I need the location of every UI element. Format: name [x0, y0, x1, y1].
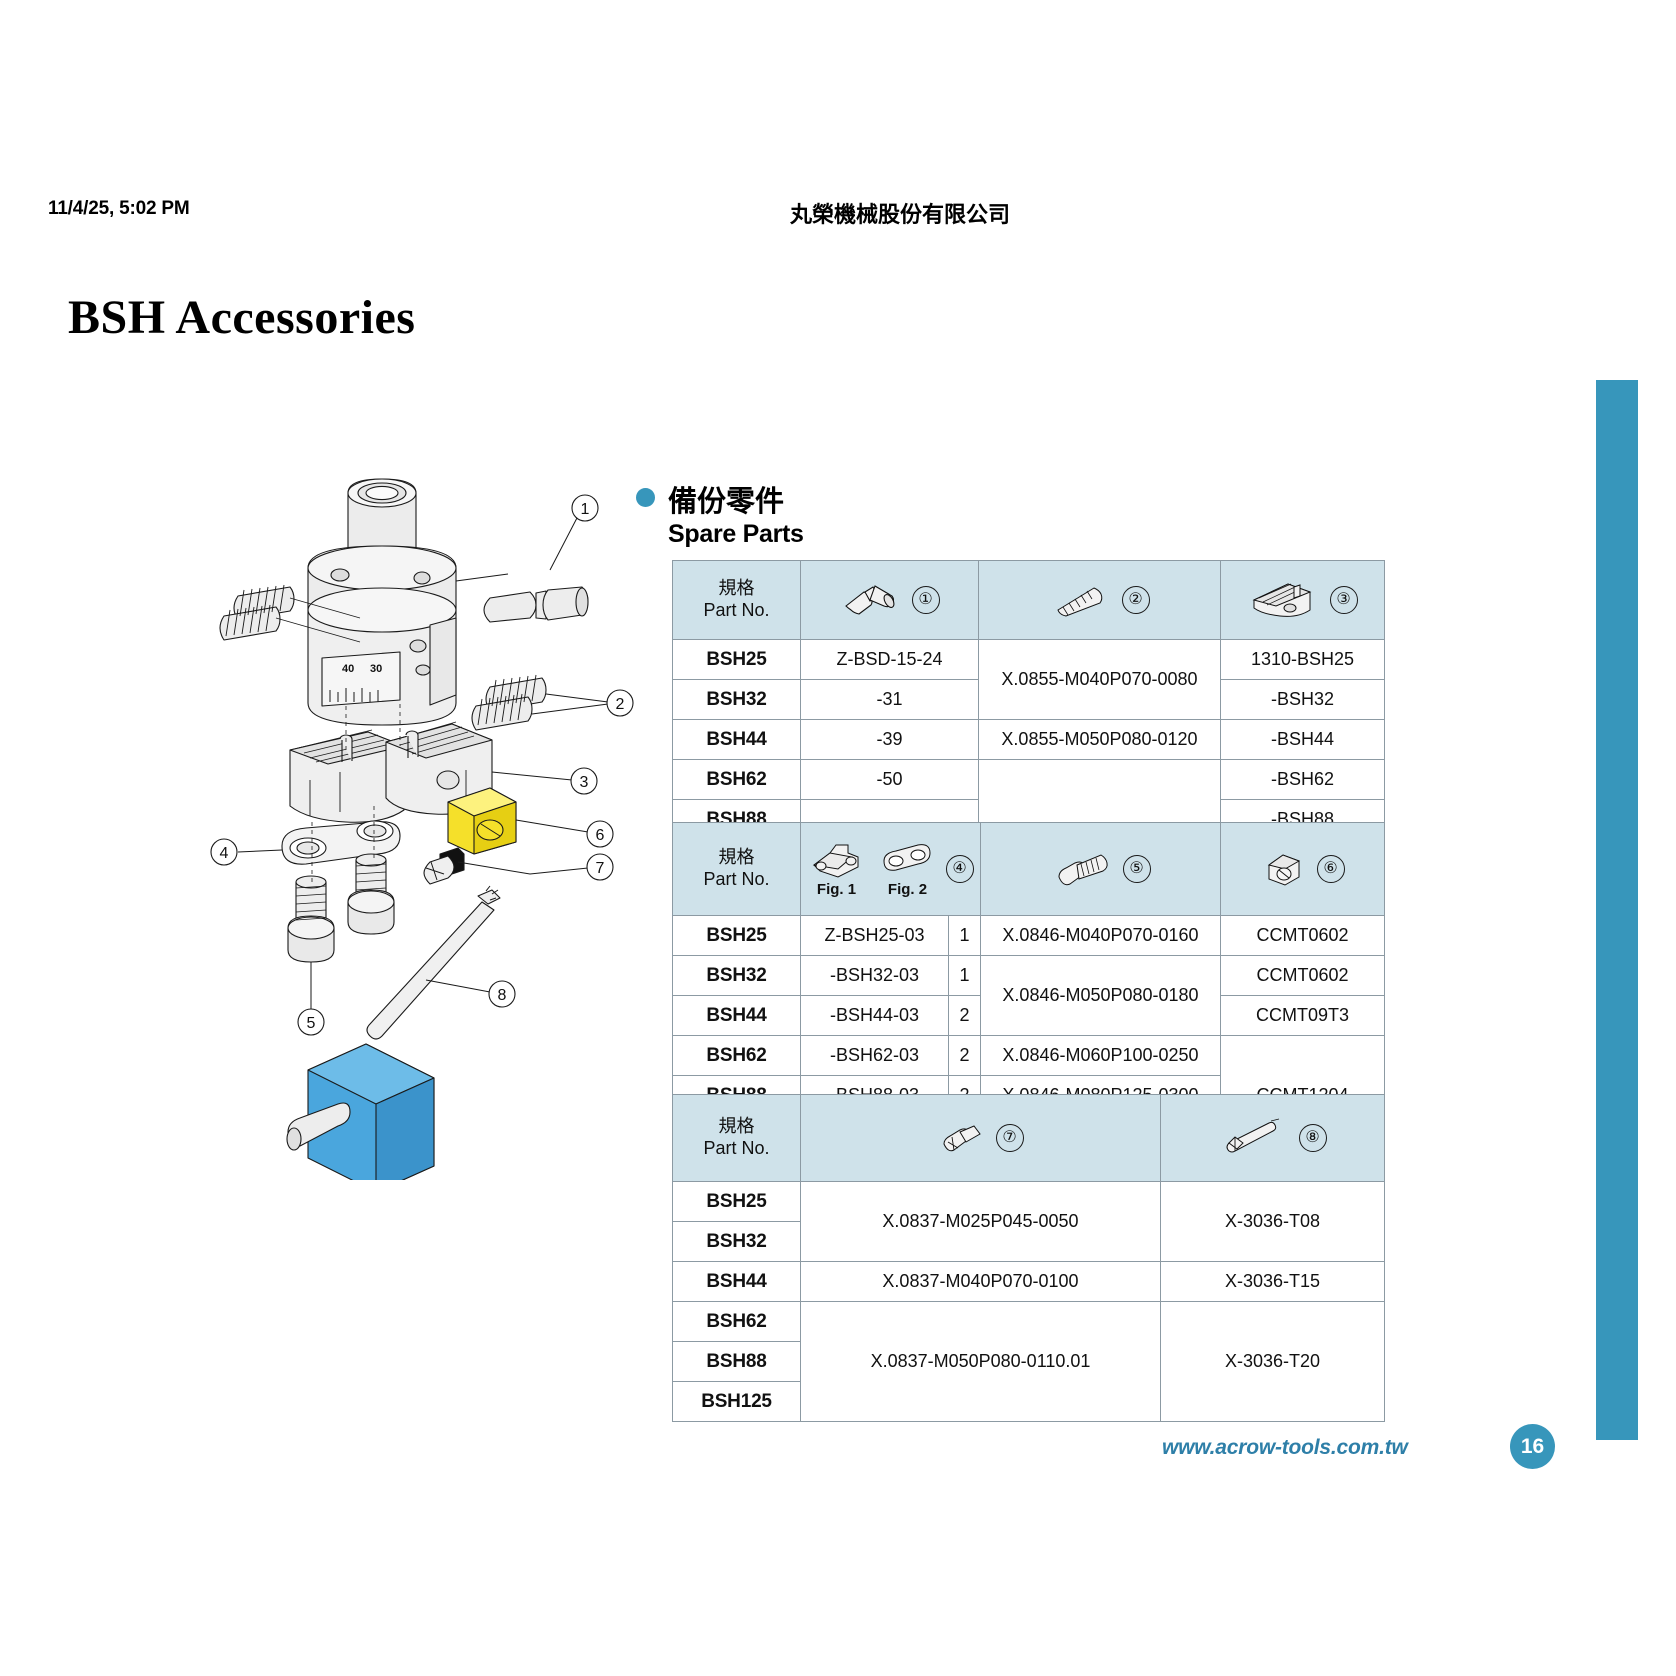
cell-value: Z-BSH25-03 [801, 916, 949, 956]
table-row: BSH62X.0837-M050P080-0110.01X-3036-T20 [673, 1302, 1385, 1342]
cell-value: -50 [801, 760, 979, 800]
cell-value: 1310-BSH25 [1221, 640, 1385, 680]
document-page: 11/4/25, 5:02 PM 丸榮機械股份有限公司 BSH Accessor… [0, 0, 1676, 1676]
website-url[interactable]: www.acrow-tools.com.tw [1162, 1436, 1408, 1460]
callout-8: ⑧ [1299, 1124, 1327, 1152]
cell-value: -BSH32 [1221, 680, 1385, 720]
cell-value: X.0837-M025P045-0050 [801, 1182, 1161, 1262]
exploded-assembly-diagram: 1 2 3 4 5 6 7 8 40 30 [190, 450, 660, 1180]
header-en: Part No. [673, 1138, 800, 1160]
col-header-item-7: ⑦ [801, 1095, 1161, 1182]
svg-text:1: 1 [581, 501, 590, 518]
set-screw-icon [1050, 580, 1112, 620]
table-row: BSH25X.0837-M025P045-0050X-3036-T08 [673, 1182, 1385, 1222]
table-row: BSH44-39X.0855-M050P080-0120-BSH44 [673, 720, 1385, 760]
col-header-item-4: Fig. 1 Fig. 2 [801, 823, 981, 916]
callout-6: ⑥ [1317, 855, 1345, 883]
callout-1: ① [912, 586, 940, 614]
svg-text:8: 8 [498, 987, 507, 1004]
fig2-label: Fig. 2 [888, 881, 927, 898]
col-header-item-8: ⑧ [1161, 1095, 1385, 1182]
cell-part-no: BSH62 [673, 760, 801, 800]
cell-value: X.0846-M050P080-0180 [981, 956, 1221, 1036]
col-header-part-no: 規格 Part No. [673, 561, 801, 640]
col-header-item-3: ③ [1221, 561, 1385, 640]
cell-value: -BSH44 [1221, 720, 1385, 760]
cell-part-no: BSH88 [673, 1342, 801, 1382]
page-title: BSH Accessories [68, 290, 415, 345]
callout-7: ⑦ [996, 1124, 1024, 1152]
callout-2: ② [1122, 586, 1150, 614]
col-header-part-no: 規格 Part No. [673, 823, 801, 916]
svg-text:6: 6 [596, 827, 605, 844]
cell-value: -31 [801, 680, 979, 720]
cell-value: X.0846-M060P100-0250 [981, 1036, 1221, 1076]
clamp-fig2-icon [880, 841, 936, 879]
cap-screw-icon [1051, 849, 1113, 889]
svg-text:30: 30 [370, 663, 382, 675]
section-heading-en: Spare Parts [668, 520, 804, 549]
company-name: 丸榮機械股份有限公司 [790, 197, 1010, 229]
cell-value: -39 [801, 720, 979, 760]
svg-text:3: 3 [580, 774, 589, 791]
cell-value: X-3036-T15 [1161, 1262, 1385, 1302]
cell-value: -BSH62-03 [801, 1036, 949, 1076]
table-row: BSH25Z-BSH25-031X.0846-M040P070-0160CCMT… [673, 916, 1385, 956]
col-header-item-6: ⑥ [1221, 823, 1385, 916]
cell-value: X.0855-M040P070-0080 [979, 640, 1221, 720]
cell-value: 1 [949, 916, 981, 956]
cell-part-no: BSH32 [673, 1222, 801, 1262]
cell-value: X.0846-M040P070-0160 [981, 916, 1221, 956]
fig1-label: Fig. 1 [817, 881, 856, 898]
cell-part-no: BSH44 [673, 1262, 801, 1302]
grub-screw-icon [938, 1120, 986, 1156]
cell-part-no: BSH62 [673, 1302, 801, 1342]
cell-value: 1 [949, 956, 981, 996]
cartridge-block-icon [1248, 578, 1320, 622]
cell-value: X.0837-M040P070-0100 [801, 1262, 1161, 1302]
cell-part-no: BSH125 [673, 1382, 801, 1422]
col-header-part-no: 規格 Part No. [673, 1095, 801, 1182]
torx-wrench-icon [1219, 1117, 1289, 1159]
cell-value: X.0837-M050P080-0110.01 [801, 1302, 1161, 1422]
header-en: Part No. [673, 600, 800, 622]
cell-part-no: BSH44 [673, 720, 801, 760]
header-cn: 規格 [673, 578, 800, 600]
callout-4: ④ [946, 855, 974, 883]
cell-part-no: BSH25 [673, 916, 801, 956]
cell-part-no: BSH44 [673, 996, 801, 1036]
plug-pin-icon [840, 580, 902, 620]
cell-value: CCMT0602 [1221, 916, 1385, 956]
spare-parts-table-3: 規格 Part No. ⑦ [672, 1094, 1385, 1422]
col-header-item-5: ⑤ [981, 823, 1221, 916]
col-header-item-2: ② [979, 561, 1221, 640]
cell-value: 2 [949, 996, 981, 1036]
section-heading-cn: 備份零件 [668, 478, 784, 520]
table-row: BSH44X.0837-M040P070-0100X-3036-T15 [673, 1262, 1385, 1302]
callout-3: ③ [1330, 586, 1358, 614]
svg-text:2: 2 [616, 696, 625, 713]
svg-text:4: 4 [220, 845, 229, 862]
svg-text:40: 40 [342, 663, 354, 675]
cell-value: -BSH32-03 [801, 956, 949, 996]
table-row: BSH32-BSH32-031X.0846-M050P080-0180CCMT0… [673, 956, 1385, 996]
insert-ccmt-icon [1261, 849, 1307, 889]
svg-text:7: 7 [596, 860, 605, 877]
cell-part-no: BSH25 [673, 640, 801, 680]
col-header-item-1: ① [801, 561, 979, 640]
callout-5: ⑤ [1123, 855, 1151, 883]
svg-text:5: 5 [307, 1015, 316, 1032]
cell-value: X-3036-T20 [1161, 1302, 1385, 1422]
header-en: Part No. [673, 869, 800, 891]
page-number-badge: 16 [1510, 1424, 1555, 1469]
cell-value: 2 [949, 1036, 981, 1076]
table-row: BSH25Z-BSD-15-24X.0855-M040P070-00801310… [673, 640, 1385, 680]
header-cn: 規格 [673, 847, 800, 869]
cell-value: -BSH62 [1221, 760, 1385, 800]
cell-part-no: BSH62 [673, 1036, 801, 1076]
cell-part-no: BSH25 [673, 1182, 801, 1222]
side-accent-bar [1596, 380, 1638, 1440]
cell-part-no: BSH32 [673, 956, 801, 996]
cell-value: CCMT0602 [1221, 956, 1385, 996]
cell-part-no: BSH32 [673, 680, 801, 720]
header-cn: 規格 [673, 1116, 800, 1138]
clamp-fig1-icon [808, 841, 866, 879]
print-timestamp: 11/4/25, 5:02 PM [48, 198, 190, 220]
cell-value: X-3036-T08 [1161, 1182, 1385, 1262]
cell-value: CCMT09T3 [1221, 996, 1385, 1036]
cell-value: X.0855-M050P080-0120 [979, 720, 1221, 760]
cell-value: -BSH44-03 [801, 996, 949, 1036]
cell-value: Z-BSD-15-24 [801, 640, 979, 680]
table-row: BSH62-BSH62-032X.0846-M060P100-0250CCMT1… [673, 1036, 1385, 1076]
table-row: BSH62-50-BSH62 [673, 760, 1385, 800]
